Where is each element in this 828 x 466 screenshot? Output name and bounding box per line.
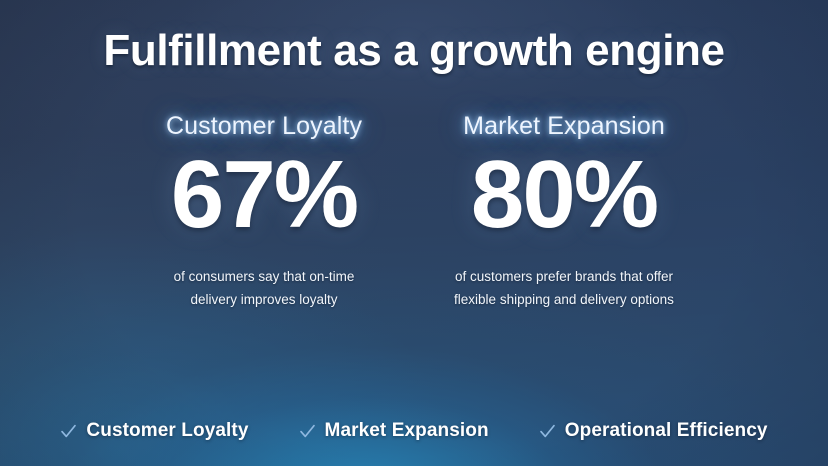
checklist: Customer Loyalty Market Expansion Operat… [0,420,828,442]
stat-description-line-1: of customers prefer brands that offer [414,265,714,289]
statistics-row: Customer Loyalty 67% of consumers say th… [0,112,828,312]
stat-card-customer-loyalty: Customer Loyalty 67% of consumers say th… [114,112,414,312]
slide-canvas: Fulfillment as a growth engine Customer … [0,0,828,466]
page-title: Fulfillment as a growth engine [0,26,828,76]
list-item-label: Market Expansion [325,420,489,442]
stat-card-market-expansion: Market Expansion 80% of customers prefer… [414,112,714,312]
list-item-label: Customer Loyalty [86,420,248,442]
list-item-market-expansion: Market Expansion [299,420,489,442]
check-icon [299,423,316,440]
stat-label: Market Expansion [414,112,714,141]
stat-description-line-2: delivery improves loyalty [114,288,414,312]
stat-description: of consumers say that on-time delivery i… [114,265,414,312]
slide-content: Fulfillment as a growth engine Customer … [0,0,828,466]
stat-description: of customers prefer brands that offer fl… [414,265,714,312]
list-item-operational-efficiency: Operational Efficiency [539,420,768,442]
stat-description-line-1: of consumers say that on-time [114,265,414,289]
check-icon [60,423,77,440]
stat-label: Customer Loyalty [114,112,414,141]
stat-description-line-2: flexible shipping and delivery options [414,288,714,312]
list-item-customer-loyalty: Customer Loyalty [60,420,248,442]
list-item-label: Operational Efficiency [565,420,768,442]
check-icon [539,423,556,440]
stat-value: 67% [114,145,414,245]
stat-value: 80% [414,145,714,245]
